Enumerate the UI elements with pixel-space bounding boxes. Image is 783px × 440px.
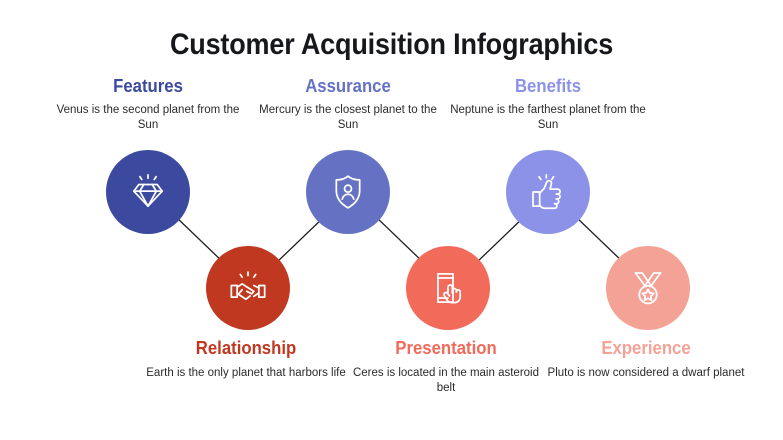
- step-text-relationship: Relationship Earth is the only planet th…: [146, 338, 346, 381]
- infographic-slide: Customer Acquisition Infographics Featur…: [0, 0, 783, 440]
- step-circle-benefits[interactable]: [506, 150, 590, 234]
- step-description-relationship: Earth is the only planet that harbors li…: [146, 366, 346, 381]
- step-description-assurance: Mercury is the closest planet to the Sun: [248, 103, 448, 133]
- medal-icon: [628, 268, 668, 308]
- handshake-icon: [228, 268, 268, 308]
- step-circle-experience[interactable]: [606, 246, 690, 330]
- step-heading-features: Features: [55, 76, 241, 97]
- step-description-features: Venus is the second planet from the Sun: [48, 103, 248, 133]
- step-heading-relationship: Relationship: [153, 338, 339, 359]
- shield-person-icon: [328, 172, 368, 212]
- step-text-presentation: Presentation Ceres is located in the mai…: [346, 338, 546, 396]
- step-description-experience: Pluto is now considered a dwarf planet: [546, 366, 746, 381]
- step-circle-presentation[interactable]: [406, 246, 490, 330]
- step-description-presentation: Ceres is located in the main asteroid be…: [346, 366, 546, 396]
- step-text-benefits: Benefits Neptune is the farthest planet …: [448, 76, 648, 133]
- page-title: Customer Acquisition Infographics: [39, 28, 744, 62]
- step-heading-benefits: Benefits: [455, 76, 641, 97]
- step-text-assurance: Assurance Mercury is the closest planet …: [248, 76, 448, 133]
- step-circle-relationship[interactable]: [206, 246, 290, 330]
- step-text-experience: Experience Pluto is now considered a dwa…: [546, 338, 746, 381]
- mobile-tap-icon: [428, 268, 468, 308]
- step-heading-experience: Experience: [553, 338, 739, 359]
- step-text-features: Features Venus is the second planet from…: [48, 76, 248, 133]
- step-heading-presentation: Presentation: [353, 338, 539, 359]
- step-description-benefits: Neptune is the farthest planet from the …: [448, 103, 648, 133]
- thumbs-up-icon: [528, 172, 568, 212]
- diamond-icon: [128, 172, 168, 212]
- step-heading-assurance: Assurance: [255, 76, 441, 97]
- step-circle-assurance[interactable]: [306, 150, 390, 234]
- step-circle-features[interactable]: [106, 150, 190, 234]
